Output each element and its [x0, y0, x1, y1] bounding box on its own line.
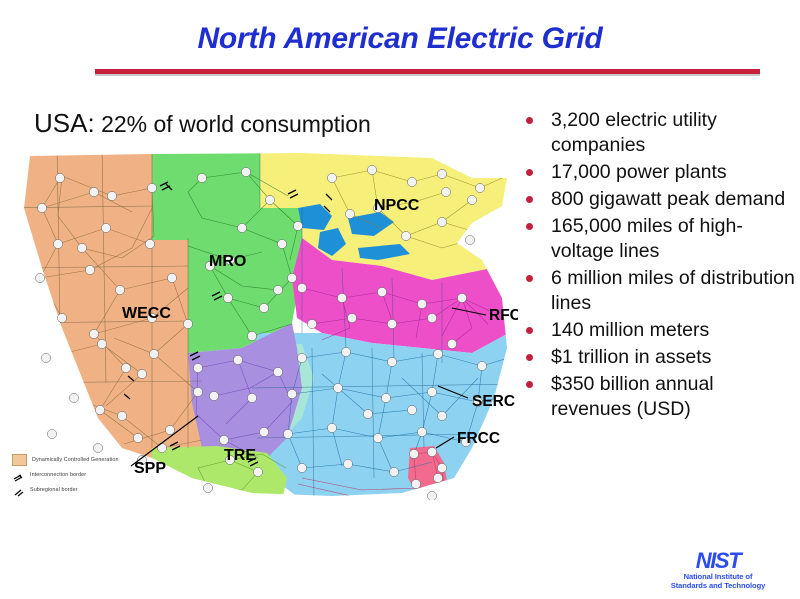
slide: North American Electric Grid USA: 22% of… [0, 0, 800, 599]
subregional-swatch-icon [12, 485, 25, 495]
bullet-dot-icon [526, 169, 533, 176]
bullet-dot-icon [526, 223, 533, 230]
bullet-dot-icon [526, 354, 533, 361]
list-item: 165,000 miles of high-voltage lines [524, 214, 796, 264]
list-item: 6 million miles of distribution lines [524, 266, 796, 316]
list-item: $1 trillion in assets [524, 345, 796, 370]
list-item: 800 gigawatt peak demand [524, 187, 796, 212]
legend-row: Subregional border [12, 482, 227, 497]
list-item-label: 165,000 miles of high-voltage lines [551, 214, 796, 264]
map-legend: Dynamically Controlled Generation Interc… [12, 452, 227, 497]
list-item-label: 140 million meters [551, 318, 709, 343]
bullet-dot-icon [526, 196, 533, 203]
bullet-dot-icon [526, 381, 533, 388]
nist-logo: NIST National Institute of Standards and… [648, 550, 788, 591]
region-label-wecc: WECC [122, 305, 171, 322]
nist-wordmark: NIST [648, 550, 788, 572]
legend-label: Subregional border [30, 487, 78, 493]
title-divider-shadow [95, 74, 760, 76]
list-item-label: 800 gigawatt peak demand [551, 187, 785, 212]
bullet-dot-icon [526, 327, 533, 334]
statistics-list: 3,200 electric utility companies 17,000 … [524, 108, 796, 424]
legend-label: Interconnection border [30, 472, 86, 478]
nist-tagline-line2: Standards and Technology [648, 581, 788, 590]
nerc-region-map: WECC MRO NPCC RFC SERC FRCC SPP TRE [2, 148, 518, 500]
legend-row: Dynamically Controlled Generation [12, 452, 227, 467]
list-item-label: 6 million miles of distribution lines [551, 266, 796, 316]
list-item: 3,200 electric utility companies [524, 108, 796, 158]
list-item: 17,000 power plants [524, 160, 796, 185]
subtitle: USA: 22% of world consumption [34, 108, 371, 139]
list-item: $350 billion annual revenues (USD) [524, 372, 796, 422]
list-item-label: $350 billion annual revenues (USD) [551, 372, 796, 422]
list-item-label: 3,200 electric utility companies [551, 108, 796, 158]
subtitle-rest: 22% of world consumption [95, 111, 371, 137]
bullet-dot-icon [526, 117, 533, 124]
list-item: 140 million meters [524, 318, 796, 343]
region-label-mro: MRO [209, 253, 246, 270]
generation-swatch-icon [12, 454, 27, 466]
list-item-label: $1 trillion in assets [551, 345, 711, 370]
nist-tagline-line1: National Institute of [648, 572, 788, 581]
region-label-serc: SERC [472, 393, 515, 410]
region-label-frcc: FRCC [457, 430, 500, 447]
page-title: North American Electric Grid [0, 22, 800, 56]
region-label-tre: TRE [224, 447, 256, 464]
legend-row: Interconnection border [12, 467, 227, 482]
region-label-rfc: RFC [489, 307, 518, 324]
legend-label: Dynamically Controlled Generation [32, 457, 119, 463]
list-item-label: 17,000 power plants [551, 160, 727, 185]
region-label-npcc: NPCC [374, 197, 420, 214]
subtitle-lead: USA: [34, 108, 95, 138]
bullet-dot-icon [526, 275, 533, 282]
interconnection-swatch-icon [12, 470, 25, 480]
